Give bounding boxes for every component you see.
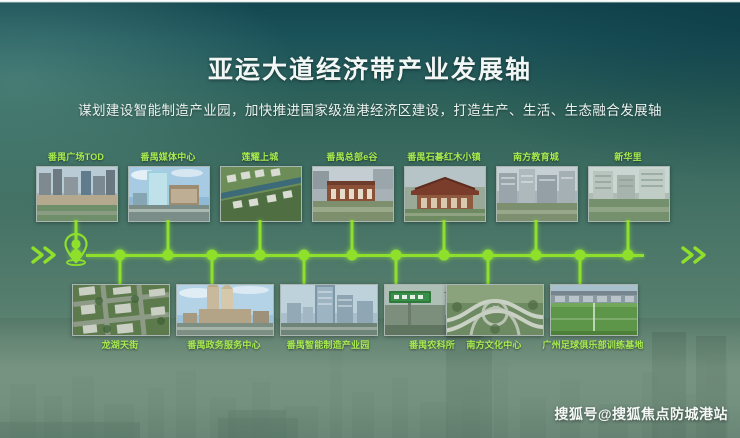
axis-node-12[interactable] [623,250,634,261]
top-card-1[interactable]: 番禺媒体中心 [128,166,208,220]
axis-node-6[interactable] [347,250,358,261]
top-thumb-4 [404,166,486,222]
top-thumb-5 [496,166,578,222]
bottom-thumb-0 [72,284,170,336]
bottom-thumb-1 [176,284,274,336]
top-card-5[interactable]: 南方教育城 [496,166,576,220]
axis-node-1[interactable] [115,250,126,261]
page-title: 亚运大道经济带产业发展轴 [0,50,740,86]
axis-left-arrow [28,240,62,270]
top-card-2[interactable]: 莲耀上城 [220,166,300,220]
bottom-thumb-4 [446,284,544,336]
bottom-card-4[interactable]: 南方文化中心 [446,284,542,334]
bottom-thumb-2 [280,284,378,336]
axis-node-0[interactable] [71,250,82,261]
bottom-card-5[interactable]: 广州足球俱乐部训练基地 [550,284,636,334]
page-subtitle: 谋划建设智能制造产业园，加快推进国家级渔港经济区建设，打造生产、生活、生态融合发… [0,99,740,119]
top-thumb-0 [36,166,118,222]
top-card-0[interactable]: 番禺广场TOD [36,166,116,220]
bottom-card-1[interactable]: 番禺政务服务中心 [176,284,272,334]
top-thumb-6 [588,166,670,222]
axis-node-10[interactable] [531,250,542,261]
bottom-card-0[interactable]: 龙湖天街 [72,284,168,334]
axis-right-arrow [678,240,712,270]
top-card-label-6: 新华里 [548,150,708,163]
top-card-6[interactable]: 新华里 [588,166,668,220]
bottom-card-2[interactable]: 番禺智能制造产业园 [280,284,376,334]
axis-node-9[interactable] [483,250,494,261]
slide-canvas: 亚运大道经济带产业发展轴 谋划建设智能制造产业园，加快推进国家级渔港经济区建设，… [0,0,740,438]
watermark: 搜狐号@搜狐焦点防城港站 [554,404,728,424]
top-edge-highlight [0,0,740,3]
top-card-3[interactable]: 番禺总部e谷 [312,166,392,220]
top-thumb-1 [128,166,210,222]
axis-node-2[interactable] [163,250,174,261]
axis-node-11[interactable] [575,250,586,261]
top-card-4[interactable]: 番禺石碁红木小镇 [404,166,484,220]
bottom-card-label-5: 广州足球俱乐部训练基地 [513,338,673,351]
axis-node-7[interactable] [391,250,402,261]
bottom-thumb-5 [550,284,638,336]
axis-node-5[interactable] [299,250,310,261]
top-thumb-2 [220,166,302,222]
top-thumb-3 [312,166,394,222]
axis-node-3[interactable] [207,250,218,261]
axis-node-4[interactable] [255,250,266,261]
axis-node-8[interactable] [439,250,450,261]
